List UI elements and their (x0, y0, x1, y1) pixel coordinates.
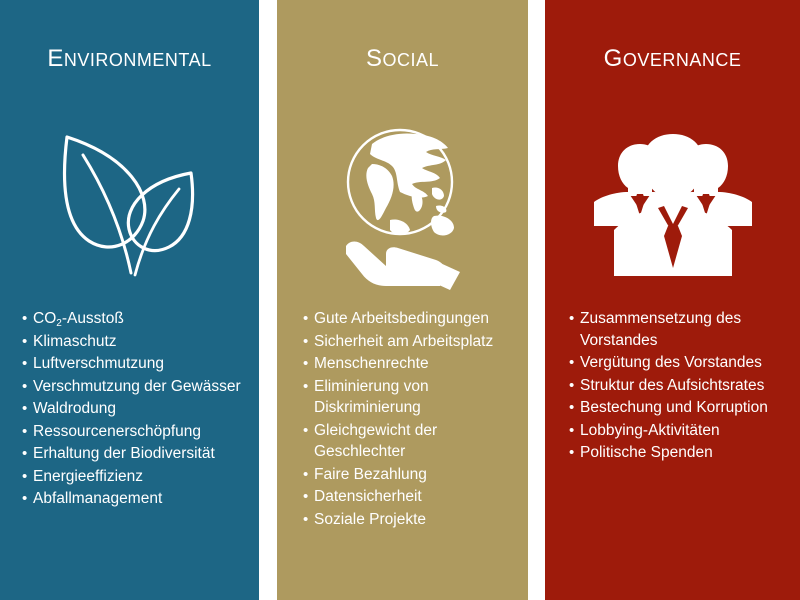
governance-title-area: Governance (545, 0, 800, 110)
list-item: CO2-Ausstoß (22, 308, 247, 330)
list-item: Politische Spenden (569, 442, 792, 464)
list-item: Eliminierung von Diskriminierung (303, 376, 518, 419)
list-item: Energieeffizienz (22, 466, 247, 488)
panel-governance: Governance (545, 0, 800, 600)
list-item: Abfallmanagement (22, 488, 247, 510)
list-item: Klimaschutz (22, 331, 247, 353)
panel-environmental: Environmental CO2-Ausstoß Klimaschutz Lu… (0, 0, 259, 600)
list-item: Soziale Projekte (303, 509, 518, 531)
panel-social: Social (277, 0, 528, 600)
list-item: Gleichgewicht der Geschlechter (303, 420, 518, 463)
social-title-area: Social (277, 0, 528, 110)
environmental-bullet-list: CO2-Ausstoß Klimaschutz Luftverschmutzun… (0, 300, 259, 511)
list-item: Zusammensetzung des Vorstandes (569, 308, 792, 351)
list-item: Erhaltung der Biodiversität (22, 443, 247, 465)
esg-infographic: Environmental CO2-Ausstoß Klimaschutz Lu… (0, 0, 800, 600)
list-item: Ressourcenerschöpfung (22, 421, 247, 443)
panel-title-social: Social (366, 38, 439, 72)
list-item: Faire Bezahlung (303, 464, 518, 486)
list-item: Gute Arbeitsbedingungen (303, 308, 518, 330)
list-item: Bestechung und Korruption (569, 397, 792, 419)
governance-bullet-list: Zusammensetzung des Vorstandes Vergütung… (545, 300, 800, 465)
list-item: Waldrodung (22, 398, 247, 420)
list-item: Lobbying-Aktivitäten (569, 420, 792, 442)
business-people-group-icon (545, 110, 800, 300)
panel-title-governance: Governance (604, 38, 742, 72)
list-item: Luftverschmutzung (22, 353, 247, 375)
list-item: Menschenrechte (303, 353, 518, 375)
list-item: Sicherheit am Arbeitsplatz (303, 331, 518, 353)
list-item: Struktur des Aufsichtsrates (569, 375, 792, 397)
globe-in-hand-icon (277, 110, 528, 300)
list-item: Datensicherheit (303, 486, 518, 508)
list-item: Vergütung des Vorstandes (569, 352, 792, 374)
social-bullet-list: Gute Arbeitsbedingungen Sicherheit am Ar… (277, 300, 528, 531)
environmental-title-area: Environmental (0, 0, 259, 110)
panel-title-environmental: Environmental (47, 38, 211, 72)
leaves-icon (0, 110, 259, 300)
list-item: Verschmutzung der Gewässer (22, 376, 247, 398)
